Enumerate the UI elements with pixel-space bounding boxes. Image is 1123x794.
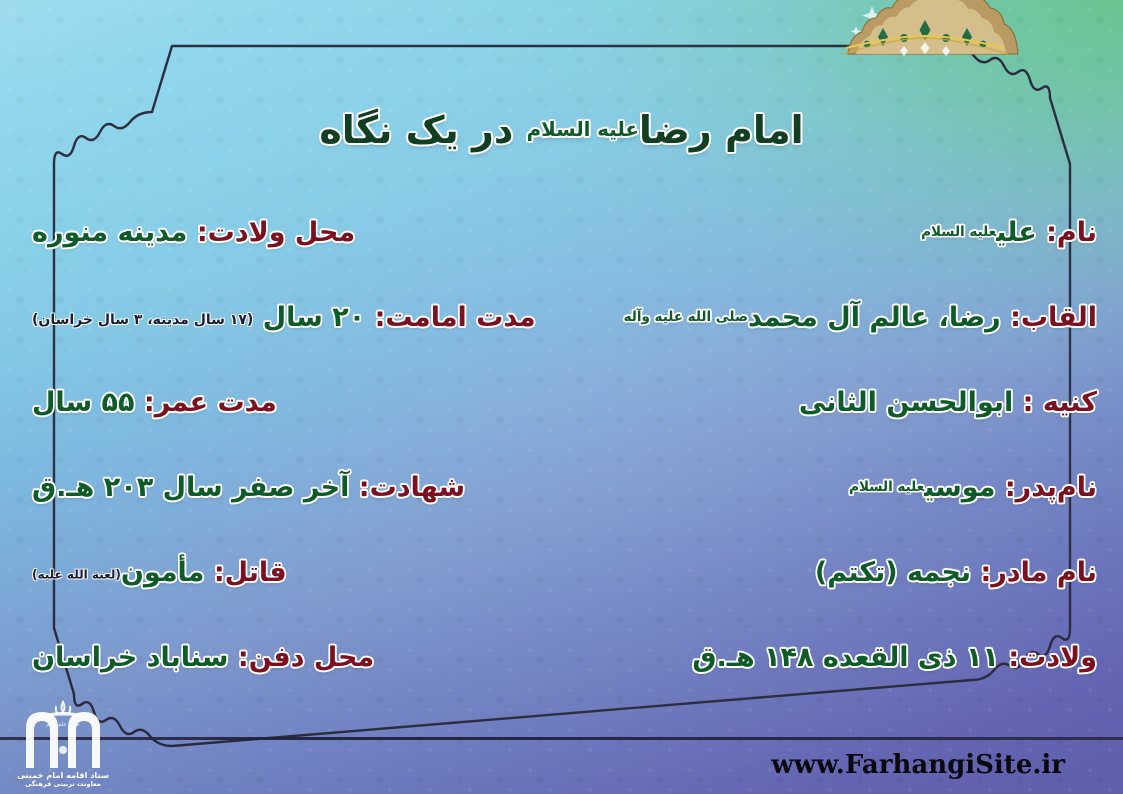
title-main: امام رضا bbox=[639, 108, 804, 152]
title-honorific: علیه السلام bbox=[527, 118, 639, 141]
honorific-text: علیه السلام bbox=[849, 479, 924, 495]
info-label: قاتل: bbox=[214, 557, 287, 588]
info-value: آخر صفر سال ۲۰۳ هـ.ق bbox=[32, 472, 349, 503]
info-row-burial-place: محل دفن: سناباد خراسان bbox=[28, 615, 498, 700]
info-row-kunya: کنیه : ابوالحسن الثانی bbox=[631, 360, 1101, 445]
info-row-killer: قاتل: مأمون(لعنة الله علیه) bbox=[28, 530, 498, 615]
info-value: رضا، عالم آل محمد bbox=[748, 302, 1001, 333]
info-row-father: نام‌پدر: موسیعلیه السلام bbox=[631, 445, 1101, 530]
poster-background: امام رضاعلیه السلام در یک نگاه نام: علیع… bbox=[0, 0, 1123, 794]
info-note: (۱۷ سال مدینه، ۳ سال خراسان) bbox=[32, 312, 253, 328]
info-label: القاب: bbox=[1010, 302, 1097, 333]
info-label: نام‌پدر: bbox=[1005, 472, 1097, 503]
info-label: نام: bbox=[1046, 217, 1097, 248]
website-url[interactable]: www.FarhangiSite.ir bbox=[771, 750, 1065, 780]
info-value: موسی bbox=[924, 472, 995, 503]
info-row-birth-place: محل ولادت: مدینه منوره bbox=[28, 190, 498, 275]
info-row-imamate-duration: مدت امامت: ۲۰ سال (۱۷ سال مدینه، ۳ سال خ… bbox=[28, 275, 498, 360]
info-column-right: نام: علیعلیه السلام القاب: رضا، عالم آل … bbox=[631, 190, 1101, 700]
info-row-lifespan: مدت عمر: ۵۵ سال bbox=[28, 360, 498, 445]
info-row-name: نام: علیعلیه السلام bbox=[631, 190, 1101, 275]
info-value: ۲۰ سال bbox=[263, 302, 366, 333]
logo-top-text: حوزه علمیه قم bbox=[46, 722, 80, 728]
info-value: ابوالحسن الثانی bbox=[799, 387, 1013, 418]
info-label: مدت امامت: bbox=[375, 302, 536, 333]
info-value: ۱۱ ذی القعده ۱۴۸ هـ.ق bbox=[692, 642, 999, 673]
info-note: (لعنة الله علیه) bbox=[32, 567, 121, 581]
info-label: کنیه : bbox=[1023, 387, 1097, 418]
honorific-text: علیه السلام bbox=[921, 224, 996, 240]
title-suffix: در یک نگاه bbox=[319, 108, 513, 152]
info-label: مدت عمر: bbox=[144, 387, 277, 418]
info-label: ولادت: bbox=[1008, 642, 1097, 673]
info-value: سناباد خراسان bbox=[32, 642, 229, 673]
honorific-text: صلی الله علیه وآله bbox=[624, 309, 748, 325]
info-value: نجمه (تکتم) bbox=[815, 557, 971, 588]
organization-logo: حوزه علمیه قم ستاد اقامه امام خمینی معاو… bbox=[4, 690, 122, 790]
info-label: شهادت: bbox=[359, 472, 465, 503]
info-label: محل ولادت: bbox=[197, 217, 355, 248]
info-row-martyrdom: شهادت: آخر صفر سال ۲۰۳ هـ.ق bbox=[28, 445, 498, 530]
info-row-titles: القاب: رضا، عالم آل محمدصلی الله علیه وآ… bbox=[631, 275, 1101, 360]
info-value: مدینه منوره bbox=[32, 217, 187, 248]
crown-ornament bbox=[812, 0, 1038, 56]
info-row-mother: نام مادر: نجمه (تکتم) bbox=[631, 530, 1101, 615]
logo-sub-text: معاونت تربیتی فرهنگی bbox=[25, 780, 101, 788]
info-value: ۵۵ سال bbox=[32, 387, 135, 418]
info-value: مأمون bbox=[121, 557, 205, 588]
info-column-left: محل ولادت: مدینه منوره مدت امامت: ۲۰ سال… bbox=[28, 190, 498, 700]
footer-divider bbox=[0, 737, 1123, 740]
info-label: نام مادر: bbox=[980, 557, 1097, 588]
page-title: امام رضاعلیه السلام در یک نگاه bbox=[0, 108, 1123, 152]
info-row-birth-date: ولادت: ۱۱ ذی القعده ۱۴۸ هـ.ق bbox=[631, 615, 1101, 700]
info-label: محل دفن: bbox=[238, 642, 374, 673]
info-value: علی bbox=[996, 217, 1037, 248]
